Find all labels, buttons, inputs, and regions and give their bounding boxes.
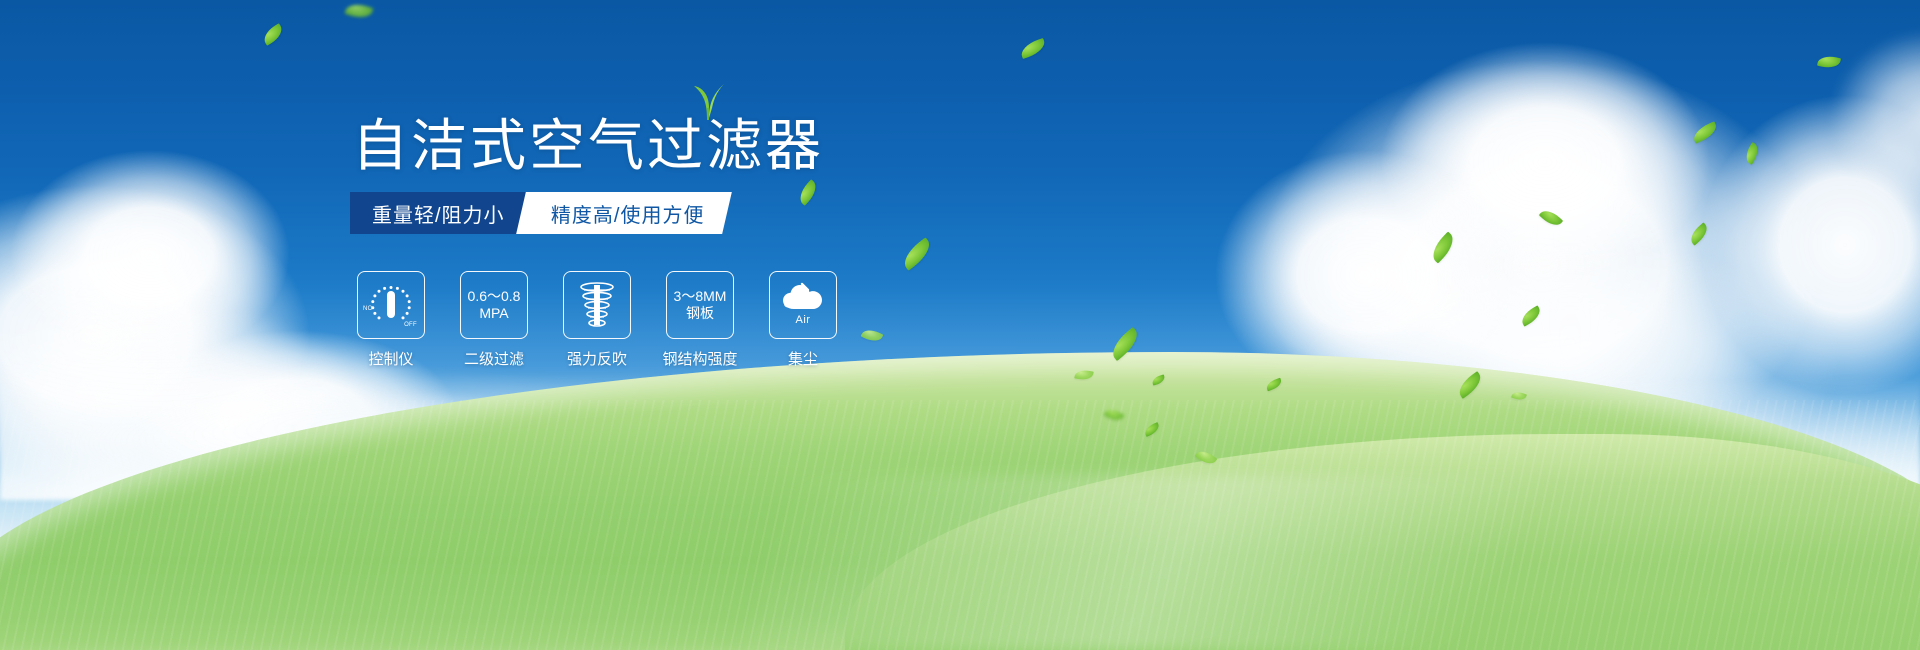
page-title-text: 自洁式空气过滤器: [352, 114, 824, 177]
feature-box-controller: NO OFF: [357, 271, 425, 339]
feature-item-dust[interactable]: Air 集尘: [769, 271, 837, 369]
feature-item-steel[interactable]: 3～8MM 钢板 钢结构强度: [666, 271, 734, 369]
product-banner: 自洁式空气过滤器 重量轻/阻力小 精度高/使用方便: [0, 0, 1920, 650]
feature-label-steel: 钢结构强度: [663, 348, 738, 369]
feature-label-dust: 集尘: [788, 348, 818, 369]
grass-texture: [0, 400, 1920, 650]
feature-item-reverse-blow[interactable]: 强力反吹: [563, 271, 631, 369]
feature-item-controller[interactable]: NO OFF 控制仪: [357, 271, 425, 369]
feature-box-reverse-blow: [563, 271, 631, 339]
feature-text-air: Air: [796, 312, 811, 329]
feature-item-filtration[interactable]: 0.6～0.8 MPA 二级过滤: [460, 271, 528, 369]
feature-label-filtration: 二级过滤: [464, 348, 524, 369]
feature-icon-row: NO OFF 控制仪 0.6～0.8 MPA 二级过滤: [357, 271, 837, 369]
feature-tab-group: 重量轻/阻力小 精度高/使用方便: [350, 192, 726, 234]
tab-weight-resistance[interactable]: 重量轻/阻力小: [350, 192, 539, 234]
tab-weight-resistance-label: 重量轻/阻力小: [372, 199, 505, 228]
filter-stack-icon: [574, 281, 620, 329]
leaf-sprout-icon: [680, 78, 736, 120]
page-title: 自洁式空气过滤器: [352, 116, 824, 176]
feature-label-reverse-blow: 强力反吹: [567, 348, 627, 369]
feature-box-filtration: 0.6～0.8 MPA: [460, 271, 528, 339]
feature-text-pressure: 0.6～0.8 MPA: [468, 288, 521, 322]
feature-label-controller: 控制仪: [368, 348, 413, 369]
gauge-max-label: OFF: [404, 322, 417, 328]
feature-box-steel: 3～8MM 钢板: [666, 271, 734, 339]
tab-precision-ease-label: 精度高/使用方便: [551, 199, 705, 228]
dust-cloud-icon: [780, 281, 826, 311]
feature-box-dust: Air: [769, 271, 837, 339]
gauge-min-label: NO: [363, 306, 373, 312]
feature-text-steel: 3～8MM 钢板: [674, 288, 727, 322]
tab-precision-ease[interactable]: 精度高/使用方便: [516, 192, 731, 234]
